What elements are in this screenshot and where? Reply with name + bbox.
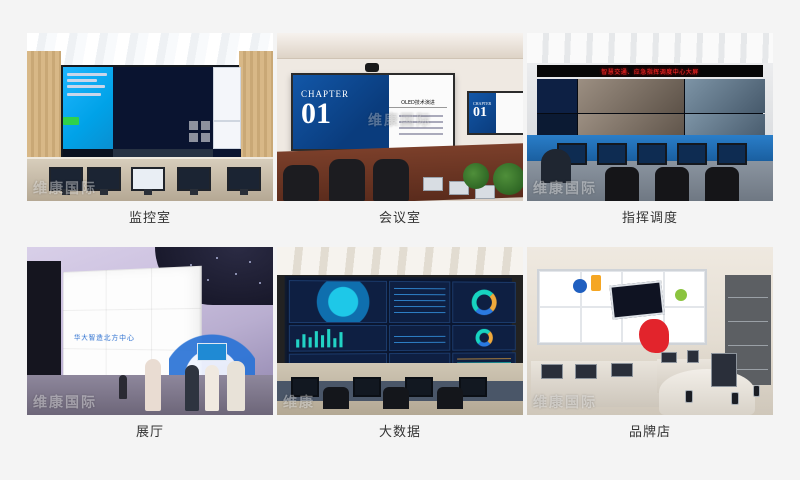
- plant: [493, 163, 523, 195]
- laptop-display: [611, 363, 633, 377]
- phone-display: [685, 390, 693, 403]
- thumbnail-conference-room[interactable]: CHAPTER 01 OLED技术演进 CHAPTER 01: [277, 33, 523, 201]
- widget-bar-chart: [389, 281, 450, 323]
- chair: [605, 167, 639, 201]
- caption-monitoring-room: 监控室: [27, 201, 273, 241]
- laptop-display: [541, 364, 563, 379]
- tablet-display: [661, 352, 677, 363]
- visitor: [119, 375, 127, 399]
- caption-conference-room: 会议室: [277, 201, 523, 241]
- screen-title: 华大智造北方中心: [74, 333, 135, 343]
- console-monitor: [597, 143, 627, 165]
- chair: [705, 167, 739, 201]
- screen-graphic: [591, 275, 601, 291]
- desk-monitor: [49, 167, 83, 191]
- tablet-display: [687, 350, 699, 363]
- side-panel: [27, 261, 61, 391]
- desk-monitor: [87, 167, 121, 191]
- desk-monitor: [227, 167, 261, 191]
- desk-monitor: [459, 377, 487, 397]
- slide-right: [389, 75, 453, 149]
- phone-display: [753, 385, 760, 397]
- phone-display: [731, 392, 739, 405]
- caption-exhibition-hall: 展厅: [27, 415, 273, 455]
- thumbnail-brand-store[interactable]: 维康国际: [527, 247, 773, 415]
- info-kiosk: [197, 343, 227, 361]
- ceiling: [27, 33, 273, 67]
- gallery-item-conference-room[interactable]: CHAPTER 01 OLED技术演进 CHAPTER 01: [277, 33, 523, 241]
- chair: [655, 167, 689, 201]
- screen-graphic: [639, 319, 669, 353]
- video-wall-secondary: CHAPTER 01: [467, 91, 523, 135]
- caption-big-data: 大数据: [277, 415, 523, 455]
- widget-scatter: [389, 325, 450, 351]
- chair: [329, 159, 365, 201]
- visitor: [227, 361, 245, 411]
- slide-chapter-number: 01: [301, 99, 331, 129]
- desk-monitor: [353, 377, 381, 397]
- gallery-item-command-dispatch[interactable]: 智慧交通、应急指挥调度中心大屏: [527, 33, 773, 241]
- data-visualization-wall: [285, 276, 512, 368]
- operator: [541, 149, 571, 183]
- panel-camera-large: [578, 79, 684, 113]
- windows-logo-icon: [189, 121, 211, 143]
- image-gallery: 维康国际 监控室 CHAPTER 01 OLED技术演进 C: [27, 33, 773, 455]
- chair: [373, 159, 409, 201]
- gallery-item-exhibition-hall[interactable]: 华大智造北方中心 维康国际 展厅: [27, 247, 273, 455]
- gallery-item-monitoring-room[interactable]: 维康国际 监控室: [27, 33, 273, 241]
- gallery-item-big-data[interactable]: 维康 大数据: [277, 247, 523, 455]
- monitor-display: [711, 353, 737, 387]
- desk-monitor: [291, 377, 319, 397]
- desk-monitor: [405, 377, 433, 397]
- gallery-item-brand-store[interactable]: 维康国际 品牌店: [527, 247, 773, 455]
- chair: [437, 387, 463, 409]
- widget-donut-chart: [452, 281, 515, 323]
- ceiling: [527, 33, 773, 63]
- caption-brand-store: 品牌店: [527, 415, 773, 455]
- screen-device-photo: [609, 280, 664, 319]
- widget-bars: [289, 325, 387, 352]
- plant: [463, 163, 489, 189]
- panel-gis-map: [213, 121, 241, 149]
- visitor: [185, 365, 199, 411]
- thumbnail-monitoring-room[interactable]: 维康国际: [27, 33, 273, 201]
- chair: [383, 387, 409, 409]
- led-banner-text: 智慧交通、应急指挥调度中心大屏: [601, 67, 699, 76]
- slide-right-small: [496, 93, 523, 133]
- slide-title: OLED技术演进: [389, 99, 447, 108]
- led-banner: 智慧交通、应急指挥调度中心大屏: [537, 65, 763, 77]
- desk-monitor: [131, 167, 165, 191]
- thumbnail-command-dispatch[interactable]: 智慧交通、应急指挥调度中心大屏: [527, 33, 773, 201]
- thumbnail-exhibition-hall[interactable]: 华大智造北方中心 维康国际: [27, 247, 273, 415]
- video-camera-icon: [365, 63, 379, 72]
- caption-command-dispatch: 指挥调度: [527, 201, 773, 241]
- chair: [283, 165, 319, 201]
- console-monitor: [637, 143, 667, 165]
- screen-graphic: [675, 289, 687, 301]
- chair: [323, 387, 349, 409]
- screen-graphic: [573, 279, 587, 293]
- thumbnail-big-data[interactable]: 维康: [277, 247, 523, 415]
- ceiling: [277, 33, 523, 59]
- console-monitor: [677, 143, 707, 165]
- panel-dashboard: [213, 67, 241, 121]
- ceiling: [277, 247, 523, 275]
- status-indicator: [63, 117, 79, 125]
- widget-map: [289, 280, 387, 323]
- visitor: [205, 365, 219, 411]
- video-wall-main: CHAPTER 01 OLED技术演进: [291, 73, 455, 151]
- desk-monitor: [177, 167, 211, 191]
- panel-overview: [537, 79, 577, 113]
- laptop-display: [575, 364, 597, 379]
- panel-camera-grid: [685, 79, 765, 113]
- visitor: [145, 359, 161, 411]
- widget-gauge: [452, 325, 515, 351]
- console-monitor: [717, 143, 747, 165]
- round-display-table: [659, 369, 755, 415]
- tablet-display: [423, 177, 443, 191]
